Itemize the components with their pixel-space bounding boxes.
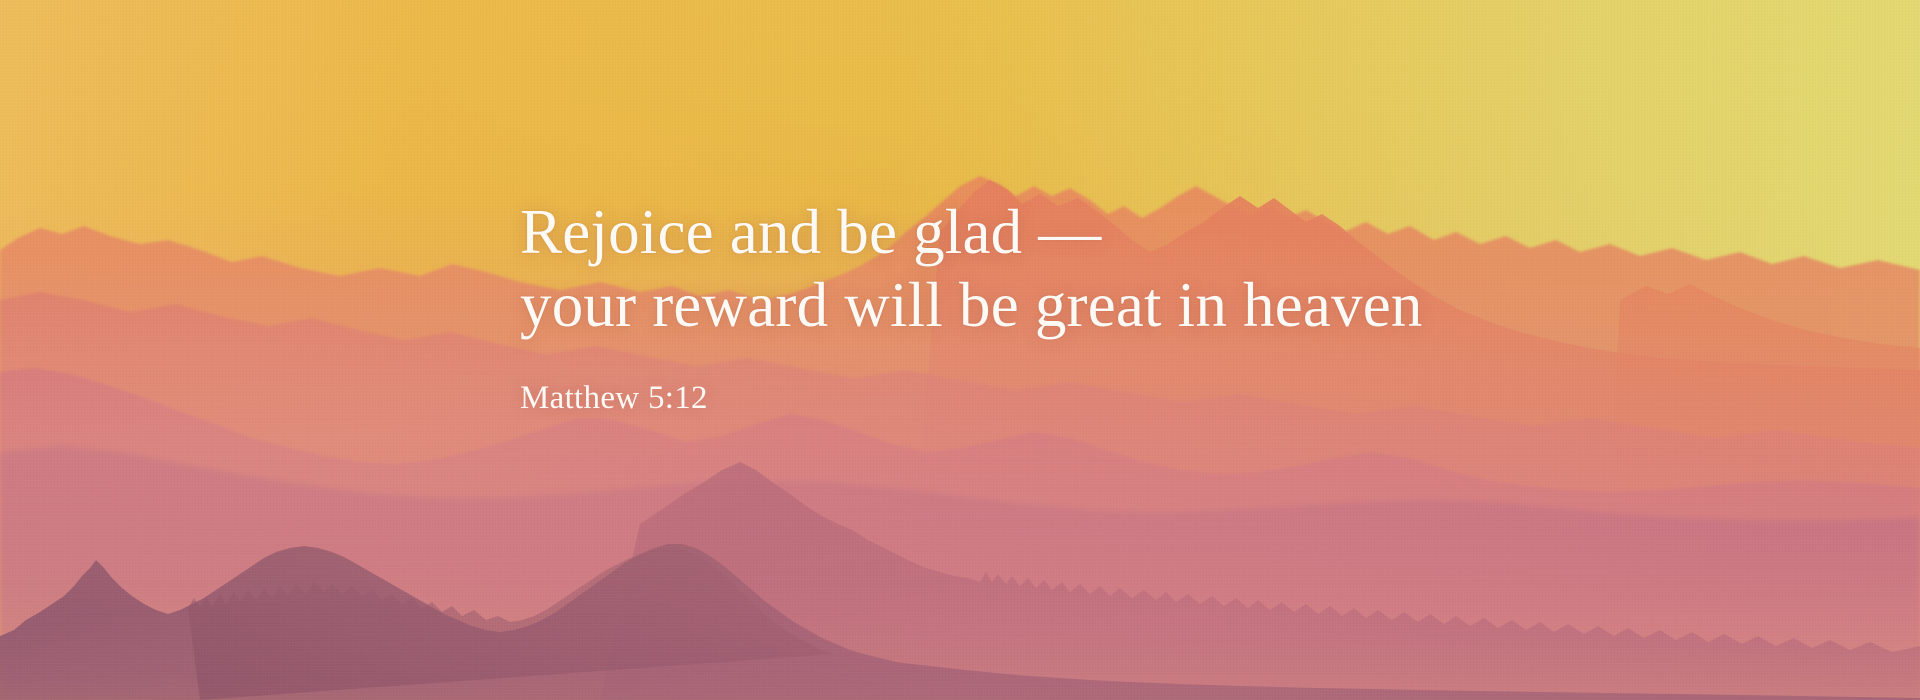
quote-attribution: Matthew 5:12 xyxy=(520,378,1640,418)
quote-line-1: Rejoice and be glad — xyxy=(520,196,1640,269)
quote-line-2: your reward will be great in heaven xyxy=(520,269,1640,342)
quote-block: Rejoice and be glad — your reward will b… xyxy=(520,196,1640,418)
hero-banner: Rejoice and be glad — your reward will b… xyxy=(0,0,1920,700)
